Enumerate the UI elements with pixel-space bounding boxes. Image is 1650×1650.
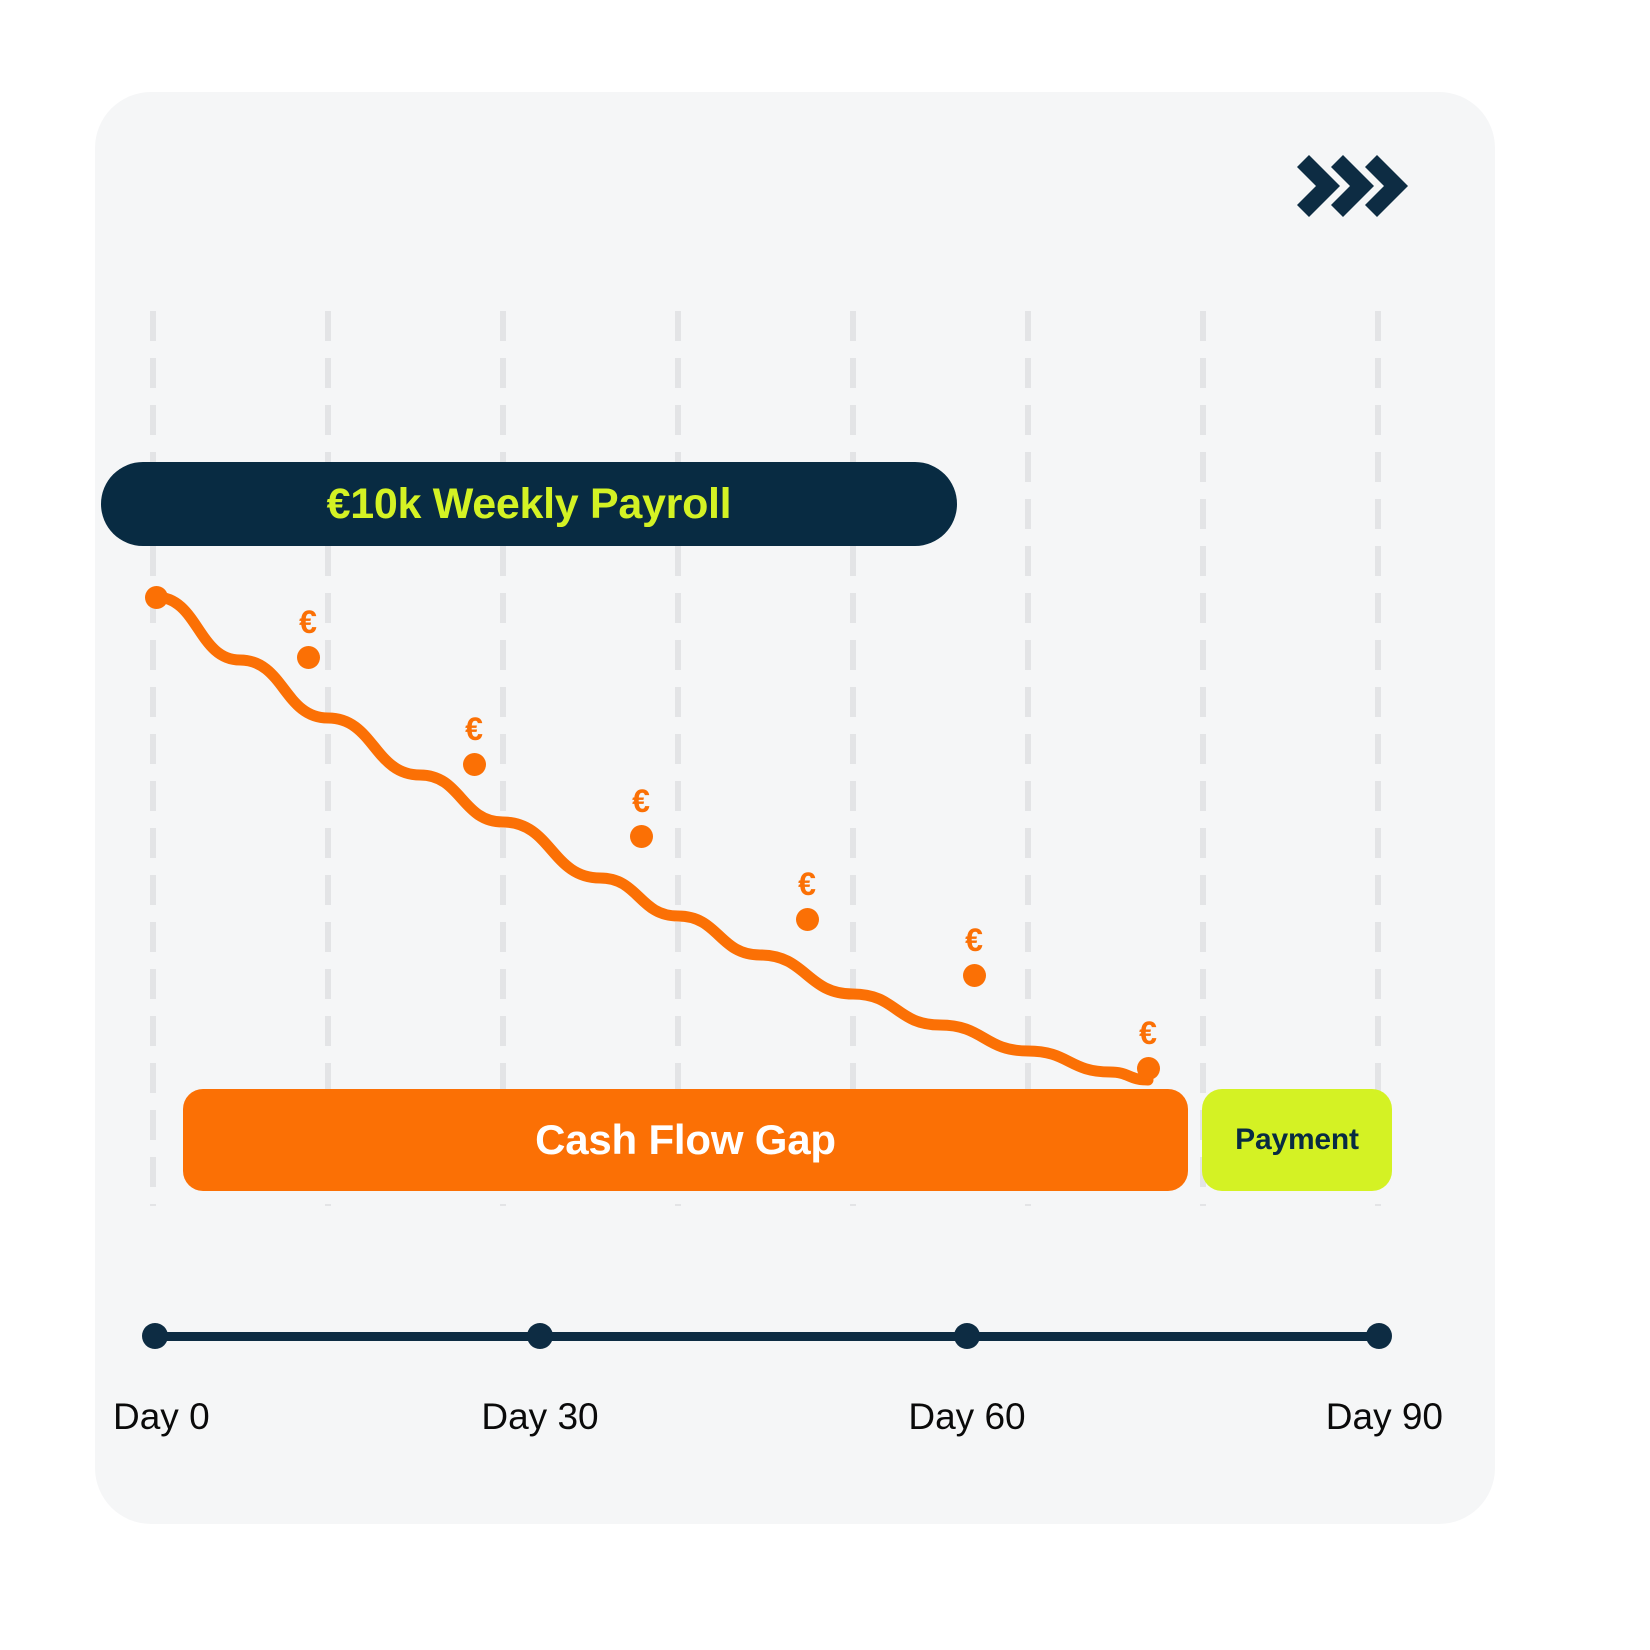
euro-icon-6: €	[1139, 1017, 1157, 1049]
payment-badge-label: Payment	[1235, 1123, 1359, 1157]
data-point-5	[963, 964, 986, 987]
cash-flow-gap-label: Cash Flow Gap	[535, 1116, 836, 1164]
cash-flow-gap-bar: Cash Flow Gap	[183, 1089, 1188, 1191]
timeline-dot-3	[1366, 1323, 1392, 1349]
euro-icon-2: €	[465, 713, 483, 745]
data-point-1	[297, 646, 320, 669]
euro-icon-1: €	[299, 606, 317, 638]
data-point-4	[796, 908, 819, 931]
timeline-dot-1	[527, 1323, 553, 1349]
chart-canvas: €10k Weekly Payroll €€€€€€ Cash Flow Gap…	[0, 0, 1650, 1650]
x-axis-label-2: Day 60	[908, 1396, 1025, 1438]
data-point-6	[1137, 1057, 1160, 1080]
euro-icon-4: €	[798, 868, 816, 900]
timeline-dot-2	[954, 1323, 980, 1349]
data-point-2	[463, 753, 486, 776]
data-point-0	[145, 586, 168, 609]
x-axis-label-3: Day 90	[1326, 1396, 1443, 1438]
payment-badge: Payment	[1202, 1089, 1392, 1191]
euro-icon-5: €	[965, 924, 983, 956]
data-point-3	[630, 825, 653, 848]
timeline-dot-0	[142, 1323, 168, 1349]
euro-icon-3: €	[632, 785, 650, 817]
x-axis-label-0: Day 0	[113, 1396, 210, 1438]
x-axis-label-1: Day 30	[481, 1396, 598, 1438]
timeline-track	[155, 1332, 1380, 1341]
